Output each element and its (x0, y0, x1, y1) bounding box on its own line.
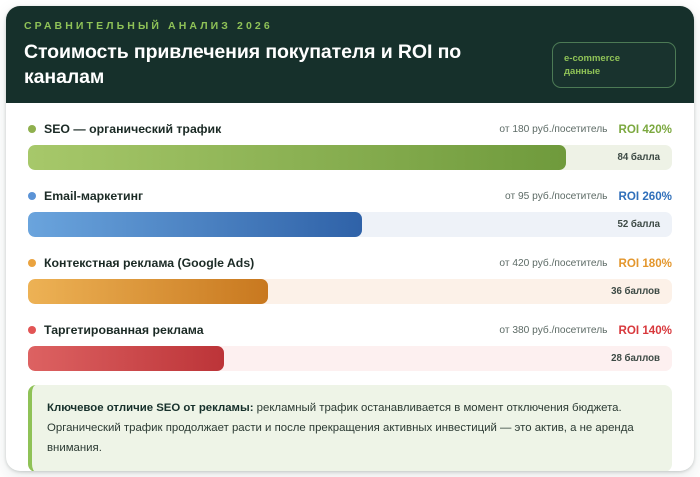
card-body: SEO — органический трафикот 180 руб./пос… (6, 103, 694, 471)
channel-row-header: Таргетированная рекламаот 380 руб./посет… (28, 322, 672, 338)
channel-color-dot (28, 192, 36, 200)
channel-bar-fill (28, 346, 224, 371)
channel-row-header: Email-маркетингот 95 руб./посетительROI … (28, 188, 672, 204)
channel-score: 28 баллов (611, 346, 660, 371)
key-insight-text: Ключевое отличие SEO от рекламы: рекламн… (47, 398, 654, 458)
channel-roi: ROI 260% (619, 190, 673, 203)
channel-list: SEO — органический трафикот 180 руб./пос… (28, 121, 672, 371)
channel-bar-fill (28, 212, 362, 237)
channel-name: SEO — органический трафик (44, 122, 221, 136)
channel-name: Контекстная реклама (Google Ads) (44, 256, 254, 270)
dataset-badge-line1: e-commerce (564, 52, 664, 65)
key-insight-lead: Ключевое отличие SEO от рекламы: (47, 402, 253, 414)
channel-color-dot (28, 326, 36, 334)
card-header: СРАВНИТЕЛЬНЫЙ АНАЛИЗ 2026 Стоимость прив… (6, 6, 694, 103)
channel-row: Контекстная реклама (Google Ads)от 420 р… (28, 255, 672, 304)
channel-row: SEO — органический трафикот 180 руб./пос… (28, 121, 672, 170)
channel-row-header: SEO — органический трафикот 180 руб./пос… (28, 121, 672, 137)
channel-color-dot (28, 125, 36, 133)
channel-bar-fill (28, 145, 566, 170)
channel-bar-track: 36 баллов (28, 279, 672, 304)
channel-name: Таргетированная реклама (44, 323, 204, 337)
dataset-badge-line2: данные (564, 65, 664, 78)
channel-score: 52 балла (617, 212, 660, 237)
report-card: СРАВНИТЕЛЬНЫЙ АНАЛИЗ 2026 Стоимость прив… (6, 6, 694, 471)
dataset-badge: e-commerce данные (552, 42, 676, 88)
channel-roi: ROI 420% (619, 123, 673, 136)
channel-row: Таргетированная рекламаот 380 руб./посет… (28, 322, 672, 371)
page-title: Стоимость привлечения покупателя и ROI п… (24, 40, 504, 90)
channel-bar-track: 28 баллов (28, 346, 672, 371)
channel-score: 84 балла (617, 145, 660, 170)
channel-cost: от 95 руб./посетитель (505, 191, 607, 202)
channel-bar-fill (28, 279, 268, 304)
eyebrow-label: СРАВНИТЕЛЬНЫЙ АНАЛИЗ 2026 (24, 20, 676, 33)
channel-cost: от 180 руб./посетитель (499, 124, 607, 135)
channel-bar-track: 84 балла (28, 145, 672, 170)
channel-cost: от 420 руб./посетитель (499, 258, 607, 269)
channel-row-header: Контекстная реклама (Google Ads)от 420 р… (28, 255, 672, 271)
channel-name: Email-маркетинг (44, 189, 143, 203)
channel-score: 36 баллов (611, 279, 660, 304)
channel-roi: ROI 140% (619, 324, 673, 337)
channel-bar-track: 52 балла (28, 212, 672, 237)
channel-row: Email-маркетингот 95 руб./посетительROI … (28, 188, 672, 237)
channel-roi: ROI 180% (619, 257, 673, 270)
key-insight-note: Ключевое отличие SEO от рекламы: рекламн… (28, 385, 672, 471)
channel-color-dot (28, 259, 36, 267)
channel-cost: от 380 руб./посетитель (499, 325, 607, 336)
